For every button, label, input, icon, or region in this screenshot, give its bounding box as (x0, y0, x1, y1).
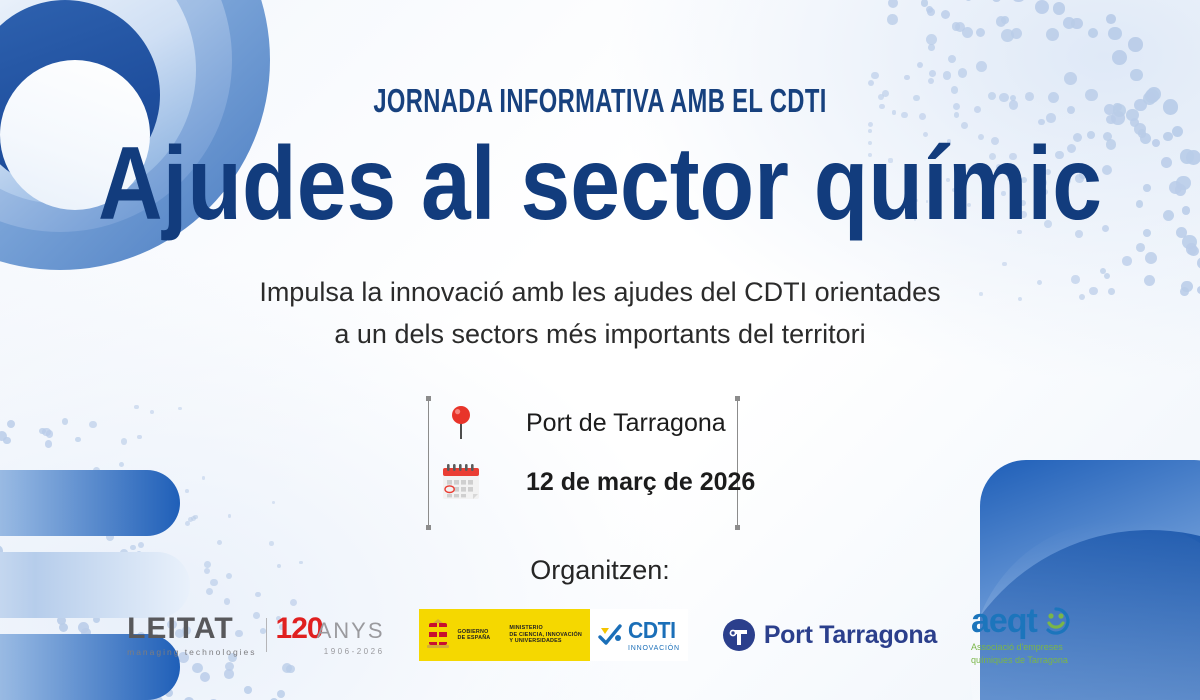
logo-gobierno-cdti: GOBIERNO DE ESPAÑA MINISTERIO DE CIENCIA… (419, 609, 688, 661)
cdti-mark-icon (598, 622, 624, 648)
event-location-row: Port de Tarragona (440, 406, 726, 440)
page-title: Ajudes al sector químic (84, 132, 1116, 236)
banner-subtitle: Impulsa la innovació amb les ajudes del … (0, 272, 1200, 356)
event-date-row: 12 de març de 2026 (440, 464, 755, 500)
organizer-logos: LEITAT managing technologies 120 ANYS 19… (0, 600, 1200, 670)
anniversary-number: 120 (276, 614, 323, 644)
map-pin-icon (440, 406, 482, 440)
port-tarragona-wordmark: Port Tarragona (764, 621, 937, 650)
logo-port-tarragona: Port Tarragona (722, 618, 937, 652)
ministry-line-3: Y UNIVERSIDADES (509, 638, 582, 644)
event-date: 12 de març de 2026 (526, 468, 755, 497)
subtitle-line-1: Impulsa la innovació amb les ajudes del … (0, 272, 1200, 314)
leitat-tagline: managing technologies (127, 648, 256, 657)
divider-left (428, 398, 429, 528)
subtitle-line-2: a un dels sectors més importants del ter… (0, 314, 1200, 356)
organizers-label: Organitzen: (0, 555, 1200, 586)
gobierno-line-2: DE ESPAÑA (458, 635, 491, 641)
anniversary-years: 1906-2026 (276, 648, 385, 656)
event-banner: JORNADA INFORMATIVA AMB EL CDTI Ajudes a… (0, 0, 1200, 700)
port-tarragona-mark-icon (722, 618, 756, 652)
logo-aeqt: aeqt Associació d'empreses químiques de … (971, 604, 1073, 665)
coat-of-arms-icon (425, 618, 451, 652)
cdti-wordmark: CDTI (628, 619, 676, 642)
anniversary-word: ANYS (317, 620, 385, 642)
logo-leitat: LEITAT managing technologies 120 ANYS 19… (127, 614, 384, 657)
divider-right (737, 398, 738, 528)
aeqt-tagline-line-2: químiques de Tarragona (971, 654, 1068, 666)
calendar-icon (440, 464, 482, 500)
logo-divider (266, 618, 267, 652)
aeqt-smiley-icon (1039, 606, 1073, 636)
aeqt-wordmark: aeqt (971, 604, 1037, 638)
banner-kicker: JORNADA INFORMATIVA AMB EL CDTI (168, 82, 1032, 120)
aeqt-tagline-line-1: Associació d'empreses (971, 641, 1068, 653)
event-location: Port de Tarragona (526, 409, 726, 438)
cdti-subtitle: INNOVACIÓN (628, 645, 680, 652)
leitat-wordmark: LEITAT (127, 614, 256, 644)
logo-cdti: CDTI INNOVACIÓN (590, 609, 688, 661)
event-details: Port de Tarragona (0, 392, 1200, 532)
logo-gobierno-de-espana: GOBIERNO DE ESPAÑA MINISTERIO DE CIENCIA… (419, 609, 590, 661)
leitat-anniversary: 120 ANYS 1906-2026 (276, 614, 385, 656)
